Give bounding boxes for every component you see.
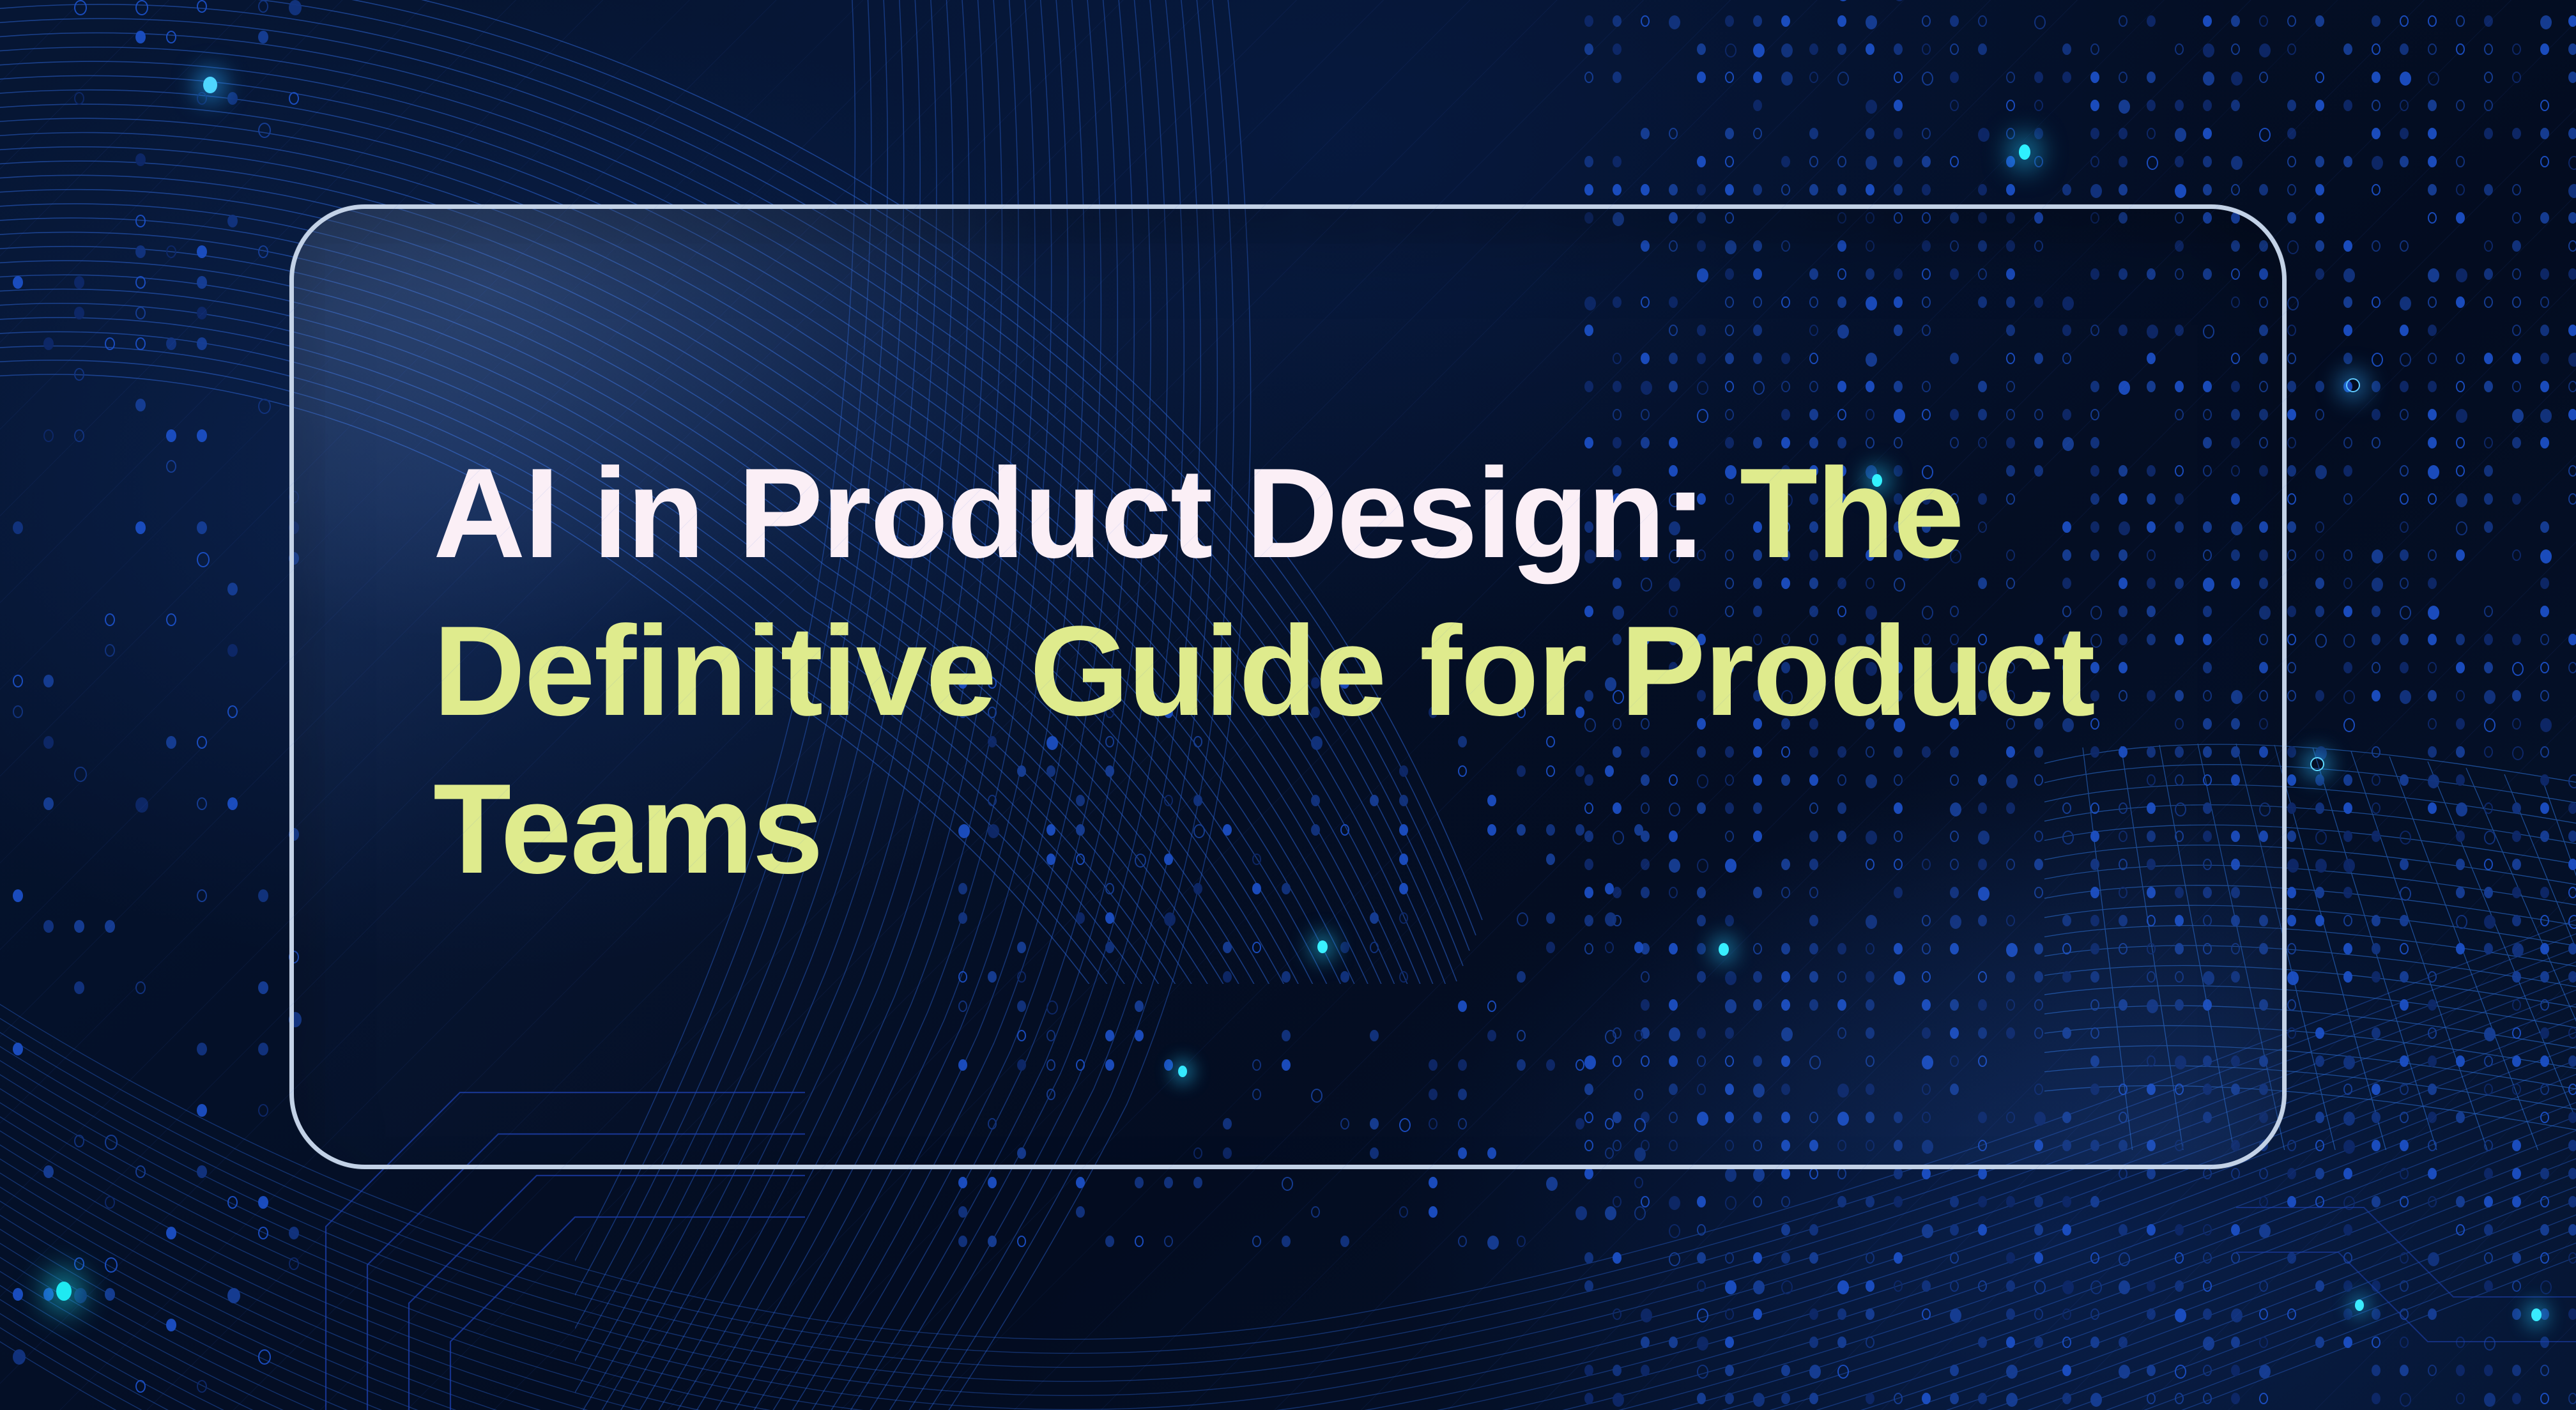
dot-filled — [1487, 1236, 1499, 1250]
dot-outline — [2456, 184, 2465, 195]
dot-outline — [2343, 1196, 2355, 1210]
dot-filled — [2315, 1337, 2324, 1348]
dot-outline — [2568, 662, 2576, 673]
dot-filled — [166, 1227, 176, 1239]
dot-filled — [2568, 802, 2576, 814]
dot-filled — [2231, 1365, 2240, 1376]
dot-filled — [197, 1165, 207, 1178]
dot-outline — [2315, 1140, 2324, 1151]
dot-outline — [2484, 1084, 2493, 1095]
dot-outline — [2400, 353, 2411, 367]
dot-filled — [2343, 943, 2352, 954]
dot-outline — [2287, 43, 2296, 55]
dot-outline — [2428, 1140, 2437, 1151]
dot-filled — [13, 1043, 23, 1055]
dot-filled — [1613, 43, 1621, 55]
dot-outline — [2175, 1252, 2184, 1264]
dot-outline — [2090, 1280, 2102, 1294]
dot-outline — [2456, 1337, 2465, 1348]
dot-filled — [2540, 43, 2549, 55]
dot-outline — [1252, 1236, 1261, 1247]
dot-filled — [2512, 409, 2524, 423]
dot-filled — [2343, 296, 2352, 308]
dot-filled — [2568, 1196, 2576, 1207]
dot-filled — [1697, 1252, 1706, 1264]
dot-filled — [258, 981, 268, 994]
dot-outline — [2343, 578, 2352, 589]
dot-filled — [2512, 1308, 2521, 1320]
dot-filled — [2287, 128, 2296, 139]
dot-filled — [2512, 1196, 2521, 1207]
dot-filled — [2315, 1280, 2324, 1292]
dot-outline — [2428, 296, 2437, 308]
dot-filled — [1894, 1252, 1903, 1264]
dot-outline — [1641, 1196, 1650, 1207]
dot-filled — [2512, 859, 2521, 870]
dot-filled — [2203, 100, 2212, 111]
dot-outline — [258, 0, 268, 13]
dot-filled — [2540, 718, 2552, 732]
dot-filled — [2147, 1168, 2156, 1179]
dot-filled — [2456, 296, 2465, 308]
dot-filled — [1781, 1224, 1790, 1236]
dot-outline — [74, 429, 84, 442]
dot-outline — [2400, 1308, 2409, 1320]
dot-filled — [2400, 859, 2409, 870]
dot-outline — [2315, 521, 2324, 533]
dot-filled — [2512, 128, 2521, 139]
dot-filled — [2175, 128, 2186, 142]
dot-filled — [197, 521, 207, 534]
dot-filled — [2231, 1393, 2240, 1404]
dot-outline — [2512, 1280, 2521, 1292]
dot-outline — [258, 399, 271, 414]
dot-filled — [2400, 774, 2409, 786]
dot-filled — [2428, 268, 2439, 282]
dot-filled — [2343, 1224, 2352, 1236]
dot-outline — [1922, 15, 1931, 27]
dot-outline — [2372, 240, 2380, 252]
dot-filled — [1978, 1196, 1987, 1207]
dot-filled — [1697, 1196, 1706, 1207]
dot-outline — [2287, 240, 2299, 254]
dot-outline — [2484, 831, 2495, 845]
dot-filled — [2343, 971, 2352, 983]
dot-outline — [1781, 1196, 1790, 1207]
dot-outline — [1164, 1236, 1173, 1247]
dot-filled — [1584, 1365, 1593, 1376]
dot-filled — [2147, 15, 2156, 27]
dot-filled — [1809, 1337, 1818, 1348]
dot-filled — [227, 1288, 240, 1303]
dot-filled — [2287, 915, 2296, 926]
dot-filled — [2343, 325, 2352, 336]
dot-filled — [43, 797, 54, 810]
dot-filled — [2456, 831, 2465, 842]
dot-filled — [2287, 1252, 2296, 1264]
dot-filled — [2428, 578, 2437, 589]
dot-filled — [2287, 409, 2296, 420]
dot-outline — [135, 337, 146, 350]
dot-filled — [2062, 1393, 2071, 1404]
dot-filled — [2456, 802, 2467, 816]
dot-filled — [2484, 381, 2493, 392]
dot-filled — [2568, 353, 2576, 367]
dot-outline — [1894, 72, 1903, 83]
dot-filled — [2062, 1365, 2071, 1376]
dot-filled — [1866, 1393, 1874, 1404]
dot-filled — [2512, 1365, 2521, 1376]
dot-outline — [74, 767, 87, 782]
dot-filled — [1837, 43, 1846, 55]
dot-outline — [135, 215, 146, 227]
dot-outline — [2456, 465, 2465, 477]
dot-filled — [2568, 1224, 2576, 1236]
dot-filled — [1809, 43, 1818, 55]
dot-outline — [2259, 1337, 2268, 1348]
dot-outline — [258, 123, 271, 138]
dot-filled — [2484, 915, 2495, 929]
dot-filled — [1725, 128, 1734, 139]
dot-outline — [2287, 943, 2296, 954]
dot-filled — [1950, 1308, 1961, 1322]
dot-filled — [1429, 1177, 1437, 1188]
dot-outline — [197, 1380, 207, 1393]
dot-outline — [13, 675, 23, 687]
dot-outline — [2259, 1196, 2268, 1207]
dot-filled — [1781, 1365, 1790, 1376]
dot-filled — [1837, 1337, 1846, 1348]
dot-filled — [2343, 774, 2352, 786]
dot-outline — [2287, 1140, 2296, 1151]
dot-filled — [289, 1227, 299, 1239]
dot-filled — [258, 31, 268, 43]
dot-filled — [2372, 943, 2380, 954]
dot-outline — [74, 1135, 84, 1147]
dot-outline — [1641, 15, 1650, 27]
dot-filled — [2315, 690, 2324, 701]
dot-outline — [166, 613, 176, 626]
dot-outline — [2512, 72, 2521, 83]
dot-filled — [2034, 72, 2043, 83]
dot-filled — [1753, 1252, 1762, 1264]
dot-outline — [2287, 634, 2296, 645]
dot-filled — [2372, 971, 2380, 983]
dot-filled — [1076, 1206, 1085, 1218]
dot-outline — [1725, 72, 1734, 83]
dot-filled — [2372, 1280, 2380, 1292]
dot-outline — [2287, 15, 2296, 27]
dot-outline — [2175, 1365, 2186, 1379]
dot-filled — [2203, 1337, 2214, 1351]
dot-outline — [2400, 409, 2409, 420]
dot-outline — [2372, 662, 2380, 673]
dot-filled — [1809, 1252, 1818, 1264]
dot-outline — [2540, 999, 2549, 1011]
dot-outline — [2484, 718, 2495, 732]
dot-filled — [2315, 887, 2324, 898]
dot-filled — [105, 920, 115, 933]
dot-outline — [2343, 437, 2352, 448]
dot-outline — [1753, 1196, 1762, 1207]
dot-filled — [1135, 1177, 1144, 1188]
dot-filled — [1697, 1337, 1708, 1351]
dot-filled — [2343, 1055, 2355, 1069]
dot-filled — [2315, 100, 2324, 111]
dot-outline — [1669, 128, 1678, 139]
dot-outline — [2006, 128, 2015, 139]
dot-filled — [2062, 1280, 2074, 1294]
dot-filled — [2484, 662, 2493, 673]
dot-outline — [2484, 1252, 2493, 1264]
dot-filled — [2315, 859, 2327, 873]
dot-filled — [13, 521, 23, 534]
dot-filled — [2203, 128, 2212, 139]
dot-filled — [2343, 802, 2352, 814]
dot-filled — [1753, 1280, 1765, 1294]
dot-filled — [1697, 184, 1706, 195]
dot-filled — [2484, 634, 2493, 645]
dot-outline — [2540, 746, 2549, 758]
dot-filled — [1193, 1177, 1202, 1188]
dot-outline — [2259, 1168, 2268, 1179]
dot-filled — [1894, 1168, 1903, 1179]
dot-filled — [2540, 774, 2549, 786]
dot-filled — [2456, 1365, 2465, 1376]
dot-filled — [2372, 1365, 2380, 1376]
dot-filled — [2400, 156, 2409, 167]
dot-outline — [1978, 15, 1987, 27]
dot-outline — [1135, 1236, 1144, 1247]
dot-filled — [1725, 184, 1734, 195]
dot-filled — [1641, 1365, 1650, 1376]
dot-outline — [2484, 100, 2493, 111]
dot-filled — [1164, 1177, 1173, 1188]
dot-filled — [1584, 1393, 1593, 1404]
dot-outline — [2315, 409, 2324, 420]
dot-filled — [1978, 43, 1987, 55]
dot-outline — [1809, 1168, 1818, 1179]
dot-filled — [1978, 128, 1989, 142]
dot-outline — [2400, 1337, 2409, 1348]
dot-outline — [43, 429, 54, 442]
dot-filled — [2034, 128, 2043, 139]
dot-outline — [1837, 156, 1846, 167]
dot-filled — [1641, 184, 1650, 195]
dot-filled — [1837, 15, 1846, 27]
dot-outline — [2372, 774, 2380, 786]
dot-filled — [1950, 72, 1959, 83]
dot-outline — [2400, 1112, 2409, 1123]
dot-filled — [166, 1319, 176, 1331]
dot-filled — [2428, 1308, 2437, 1320]
dot-outline — [2568, 1027, 2576, 1039]
dot-outline — [2484, 72, 2493, 83]
dot-filled — [988, 1177, 997, 1188]
dot-outline — [135, 1165, 146, 1178]
dot-outline — [13, 705, 23, 718]
dot-outline — [2456, 915, 2467, 929]
dot-filled — [2428, 802, 2437, 814]
dot-outline — [2484, 859, 2493, 870]
dot-filled — [2428, 184, 2437, 195]
dot-filled — [2512, 915, 2521, 926]
dot-filled — [2428, 746, 2437, 758]
dot-filled — [2484, 1224, 2493, 1236]
dot-outline — [1894, 0, 1905, 1]
dot-outline — [197, 889, 207, 902]
dot-outline — [2428, 353, 2437, 364]
dot-filled — [2315, 1027, 2324, 1039]
dot-filled — [2287, 859, 2299, 873]
dot-filled — [2540, 1027, 2549, 1039]
dot-filled — [2400, 325, 2409, 336]
dot-filled — [2512, 493, 2521, 505]
dot-filled — [2090, 1337, 2099, 1348]
dot-filled — [1753, 100, 1762, 111]
dot-filled — [197, 307, 207, 319]
dot-outline — [2568, 465, 2576, 477]
dot-filled — [2484, 15, 2493, 27]
dot-filled — [2315, 465, 2327, 479]
dot-outline — [2034, 100, 2043, 111]
dot-outline — [2568, 774, 2576, 788]
dot-filled — [2175, 100, 2184, 111]
dot-filled — [2119, 128, 2127, 139]
dot-outline — [2400, 1196, 2409, 1207]
dot-filled — [135, 399, 146, 411]
dot-outline — [2512, 43, 2521, 55]
dot-filled — [2400, 128, 2409, 139]
dot-outline — [2231, 184, 2240, 195]
dot-outline — [2540, 100, 2549, 111]
dot-filled — [2259, 1224, 2271, 1238]
dot-filled — [2231, 15, 2240, 27]
dot-outline — [2147, 156, 2158, 170]
dot-filled — [2512, 690, 2521, 701]
dot-filled — [2315, 1168, 2324, 1179]
dot-filled — [1753, 1393, 1765, 1407]
dot-outline — [2287, 325, 2296, 336]
dot-outline — [2062, 1337, 2071, 1348]
dot-filled — [289, 0, 302, 15]
dot-filled — [166, 337, 176, 350]
dot-filled — [2034, 1196, 2043, 1207]
dot-outline — [1669, 1224, 1680, 1238]
dot-filled — [1613, 15, 1621, 27]
dot-outline — [258, 1349, 271, 1365]
dot-filled — [2484, 465, 2493, 477]
dot-filled — [2428, 100, 2437, 111]
dot-filled — [2231, 72, 2242, 86]
dot-filled — [2372, 1140, 2380, 1151]
dot-outline — [258, 1227, 268, 1239]
dot-filled — [2484, 128, 2493, 139]
dot-filled — [1922, 156, 1931, 167]
dot-outline — [2372, 802, 2380, 814]
dot-outline — [2568, 1393, 2576, 1404]
dot-outline — [1950, 1280, 1959, 1292]
dot-filled — [1837, 1196, 1846, 1207]
dot-filled — [1978, 1393, 1987, 1404]
dot-filled — [2034, 1252, 2043, 1264]
dot-filled — [2006, 1280, 2015, 1292]
dot-outline — [135, 0, 148, 15]
dot-outline — [1894, 1393, 1903, 1404]
dot-filled — [135, 797, 148, 813]
glow-spark-11 — [2355, 1299, 2364, 1311]
dot-outline — [2428, 1196, 2437, 1207]
dot-outline — [1725, 156, 1734, 167]
dot-filled — [1753, 43, 1765, 57]
dot-outline — [1950, 100, 1959, 111]
dot-filled — [197, 429, 207, 442]
dot-filled — [2484, 493, 2493, 505]
dot-outline — [1753, 128, 1762, 139]
dot-filled — [2175, 156, 2184, 167]
dot-outline — [2034, 1308, 2043, 1320]
dot-filled — [2343, 1308, 2352, 1320]
dot-outline — [197, 552, 210, 567]
dot-outline — [2315, 549, 2324, 561]
dot-filled — [2568, 943, 2576, 954]
dot-outline — [2484, 1055, 2493, 1067]
dot-outline — [105, 644, 115, 657]
dot-outline — [227, 705, 238, 718]
dot-filled — [2372, 578, 2383, 592]
dot-outline — [2540, 1280, 2552, 1294]
dot-outline — [1950, 156, 1959, 167]
dot-filled — [13, 889, 23, 902]
dot-outline — [2540, 1365, 2549, 1376]
dot-filled — [1546, 1177, 1558, 1191]
dot-outline — [2400, 100, 2409, 111]
dot-filled — [258, 1196, 268, 1209]
dot-filled — [43, 675, 54, 687]
dot-outline — [2343, 690, 2355, 704]
dot-filled — [2006, 184, 2015, 195]
dot-filled — [2343, 606, 2352, 617]
dot-outline — [2540, 1084, 2549, 1095]
dot-outline — [2540, 1196, 2549, 1207]
dot-outline — [1809, 72, 1818, 83]
dot-outline — [2175, 1393, 2184, 1404]
dot-filled — [2343, 268, 2355, 282]
dot-outline — [1837, 1365, 1849, 1379]
dot-filled — [2484, 1196, 2493, 1207]
dot-filled — [2231, 1224, 2240, 1236]
hero-banner: AI in Product Design: The Definitive Gui… — [0, 0, 2576, 1410]
dot-filled — [2343, 831, 2352, 842]
dot-filled — [2119, 1337, 2127, 1348]
dot-outline — [2540, 296, 2549, 308]
dot-filled — [2456, 746, 2465, 758]
dot-filled — [2287, 1168, 2296, 1179]
dot-filled — [1866, 100, 1877, 114]
dot-filled — [2568, 831, 2576, 842]
glow-spark-2 — [2019, 144, 2030, 160]
dot-filled — [2568, 72, 2576, 83]
dot-outline — [166, 31, 176, 43]
dot-outline — [2400, 831, 2411, 845]
dot-filled — [2343, 887, 2352, 898]
dot-filled — [1641, 1337, 1650, 1348]
dot-filled — [2540, 437, 2549, 448]
dot-outline — [2512, 999, 2521, 1011]
dot-filled — [2540, 578, 2549, 589]
dot-filled — [2568, 1308, 2576, 1320]
dot-filled — [197, 1104, 207, 1117]
